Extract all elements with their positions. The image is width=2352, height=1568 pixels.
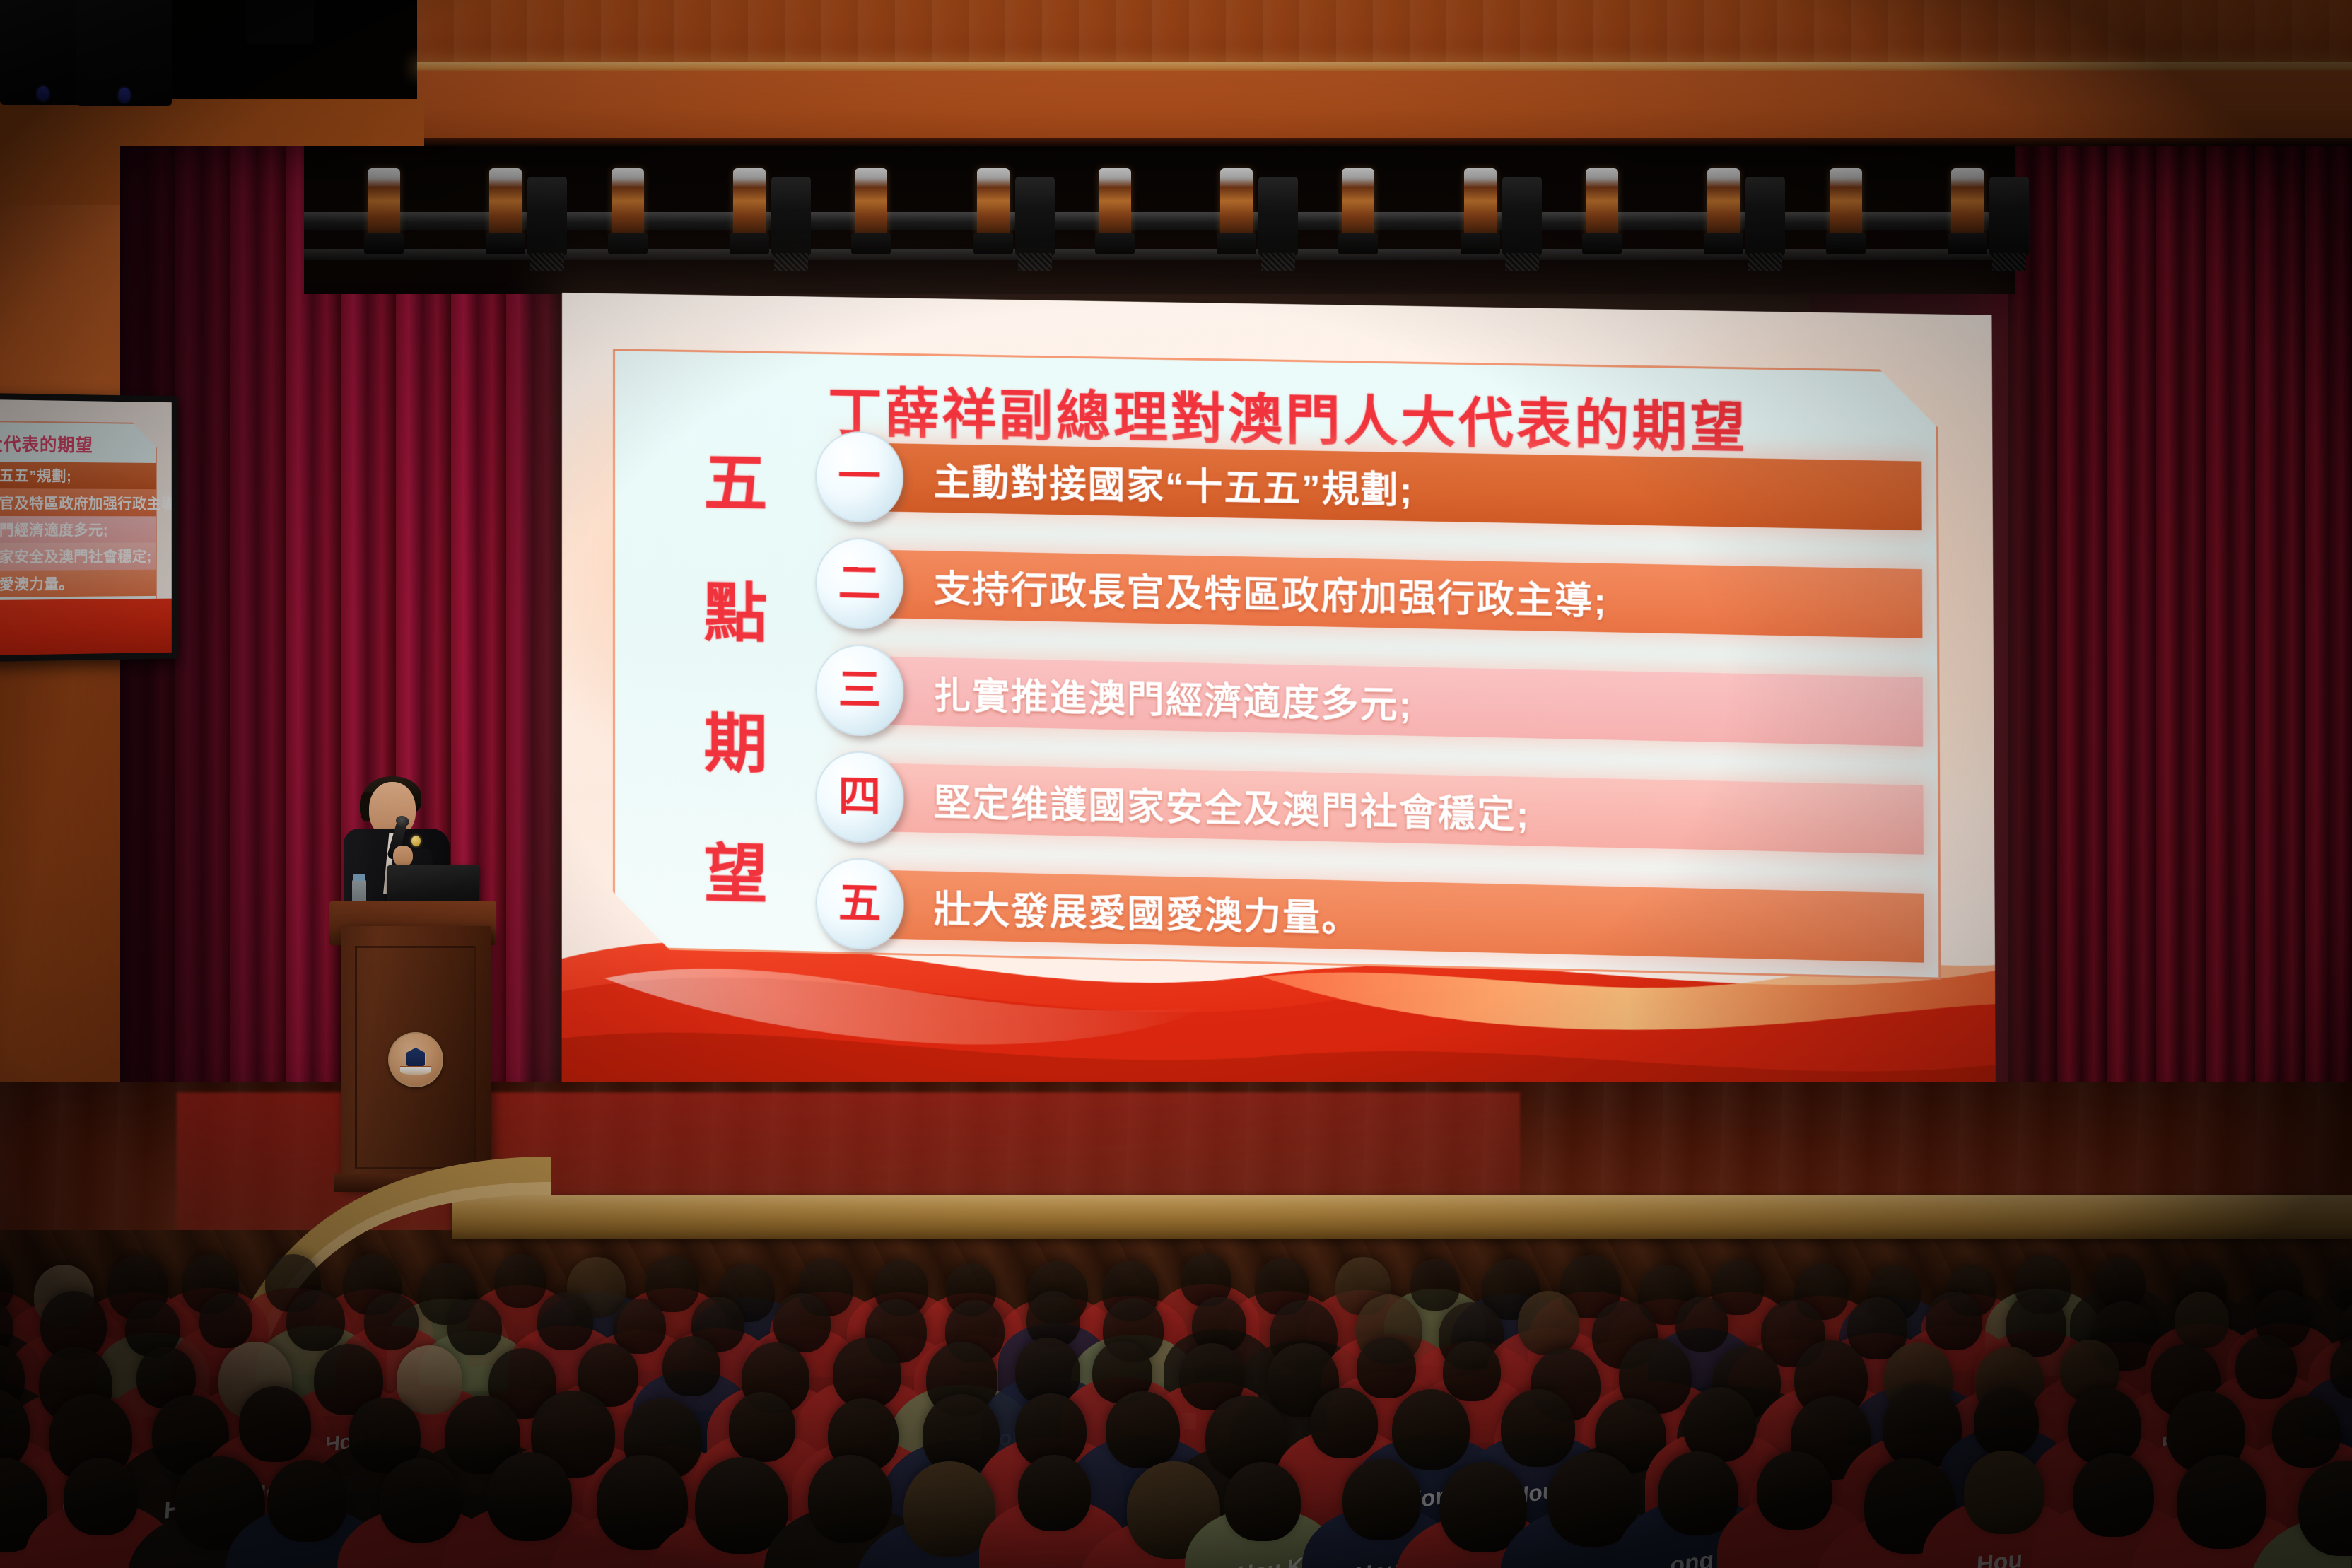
bullet-text: 支持行政長官及特區政府加强行政主導; (933, 558, 1608, 625)
bullet-numeral-badge: 一 (815, 431, 903, 523)
audience-member-head (447, 1299, 502, 1355)
confidence-monitor-title: 大代表的期望 (0, 431, 93, 457)
audience-member-head (1658, 1451, 1738, 1535)
audience-member-head (1410, 1259, 1460, 1311)
vertical-heading-char: 點 (703, 582, 767, 647)
bullet-row: 扎實推進澳門經濟適度多元; 三 (785, 650, 1923, 751)
confidence-monitor-screen: 大代表的期望 五五”規劃; 官及特區政府加强行政主導; 門經濟適度多元; 家安全… (0, 399, 172, 655)
audience-member-head (267, 1460, 346, 1543)
bullet-rows: 主動對接國家“十五五”規劃; 一 支持行政長官及特區政府加强行政主導; 二 (785, 438, 1924, 967)
audience-member-head (1926, 1292, 1982, 1350)
vertical-heading-char: 望 (703, 842, 768, 908)
audience-member-head (1357, 1337, 1416, 1398)
confidence-monitor-row: 五五”規劃; (0, 461, 156, 489)
slide-surface: 丁薛祥副總理對澳門人大代表的期望 五 點 期 望 主動對接國家“十五五”規劃; … (562, 293, 1996, 1123)
audience-member-head (64, 1458, 139, 1535)
audience-member-head (1757, 1451, 1832, 1530)
moving-head-light-icon (1502, 177, 1542, 256)
bullet-numeral-badge: 三 (815, 644, 903, 737)
audience-member-head (808, 1455, 892, 1543)
par-can-light-icon (1830, 168, 1862, 236)
ceiling-speaker-icon (0, 0, 86, 105)
audience-member-head (729, 1392, 796, 1462)
audience-member-head (286, 1290, 345, 1351)
cove-light-strip (417, 62, 2352, 71)
confidence-monitor-row: 門經濟適度多元; (0, 516, 156, 544)
par-can-light-icon (1464, 168, 1497, 236)
bullet-text: 扎實推進澳門經濟適度多元; (934, 665, 1413, 728)
audience-member-head (364, 1293, 419, 1350)
bullet-row: 壯大發展愛國愛澳力量。 五 (785, 864, 1924, 967)
audience-member-head (380, 1458, 461, 1543)
bullet-numeral-badge: 二 (815, 537, 903, 630)
slide-content-card: 丁薛祥副總理對澳門人大代表的期望 五 點 期 望 主動對接國家“十五五”規劃; … (613, 349, 1941, 980)
audience: Hou KongHou KongongKongHouHou KongHou Ko… (0, 1244, 2352, 1568)
moving-head-light-icon (1015, 177, 1055, 256)
confidence-monitor-row: 愛澳力量。 (0, 569, 156, 598)
proscenium-lower-band (417, 71, 2352, 146)
presenter-lapel-pin-icon (411, 836, 421, 846)
stage-apron-brass-lip (452, 1195, 2352, 1239)
audience-member-head (1501, 1389, 1575, 1467)
audience-member-head (1342, 1459, 1420, 1540)
moving-head-light-icon (771, 177, 811, 256)
par-can-light-icon (612, 168, 644, 236)
audience-member-head (397, 1345, 462, 1414)
bullet-bar: 扎實推進澳門經濟適度多元; (848, 656, 1924, 747)
audience-member-head (1974, 1388, 2040, 1456)
speaker-brand-logo-icon (37, 86, 49, 100)
bullet-numeral: 三 (838, 669, 881, 713)
moving-head-light-icon (1258, 177, 1298, 256)
bullet-bar: 堅定维護國家安全及澳門社會穩定; (848, 763, 1924, 855)
par-can-light-icon (489, 168, 522, 236)
confidence-monitor-row: 家安全及澳門社會穩定; (0, 543, 156, 571)
proscenium-upper-band (417, 0, 2352, 62)
audience-member-head (1964, 1451, 2044, 1534)
water-bottle-cap (353, 874, 365, 881)
confidence-monitor: 大代表的期望 五五”規劃; 官及特區政府加强行政主導; 門經濟適度多元; 家安全… (0, 393, 177, 662)
audience-member-head (199, 1293, 252, 1348)
school-crest-icon (388, 1032, 443, 1087)
audience-member-head (1311, 1388, 1379, 1458)
audience-member-head (662, 1336, 720, 1396)
vertical-heading-char: 五 (703, 452, 767, 517)
ceiling-speaker-icon (76, 0, 172, 106)
audience-member-head (1392, 1389, 1470, 1470)
moving-head-light-icon (1745, 177, 1785, 256)
audience-member-head (1224, 1462, 1301, 1541)
audience-member-head (2073, 1453, 2153, 1538)
audience-member-head (2235, 1335, 2297, 1399)
audience-member-head (537, 1292, 594, 1351)
par-can-light-icon (1099, 168, 1131, 236)
par-can-light-icon (1342, 168, 1374, 236)
bullet-numeral: 二 (838, 562, 881, 605)
audience-member-head (2175, 1292, 2229, 1348)
moving-head-light-icon (527, 177, 567, 256)
audience-member-head (2177, 1455, 2266, 1548)
crest-open-book-icon (400, 1066, 431, 1075)
audience-member-head (239, 1386, 311, 1461)
bullet-row: 堅定维護國家安全及澳門社會穩定; 四 (785, 757, 1924, 859)
par-can-light-icon (1951, 168, 1984, 236)
bullet-numeral: 五 (838, 882, 882, 926)
par-can-light-icon (1586, 168, 1618, 236)
bullet-text: 壯大發展愛國愛澳力量。 (934, 879, 1360, 942)
bullet-row: 支持行政長官及特區政府加强行政主導; 二 (785, 544, 1923, 643)
audience-member-head (2068, 1388, 2142, 1465)
confidence-monitor-rows: 五五”規劃; 官及特區政府加强行政主導; 門經濟適度多元; 家安全及澳門社會穩定… (0, 461, 156, 598)
par-can-light-icon (733, 168, 766, 236)
bullet-numeral: 四 (838, 775, 882, 819)
stage-curtain-right (2008, 146, 2352, 1149)
confidence-monitor-ribbon (0, 599, 172, 655)
par-can-light-icon (368, 168, 400, 236)
par-can-light-icon (977, 168, 1010, 236)
vertical-heading: 五 點 期 望 (686, 451, 785, 908)
par-can-light-icon (1707, 168, 1740, 236)
audience-member-head (2272, 1396, 2341, 1468)
audience-member-head (1018, 1455, 1092, 1531)
ceiling-speaker-icon (246, 0, 314, 44)
bullet-bar: 壯大發展愛國愛澳力量。 (848, 870, 1924, 963)
bullet-numeral: 一 (838, 455, 880, 498)
confidence-monitor-row: 官及特區政府加强行政主導; (0, 488, 156, 516)
audience-member-head (1675, 1297, 1728, 1352)
vertical-heading-char: 期 (703, 712, 768, 777)
presenter-hand (393, 846, 413, 867)
bullet-text: 主動對接國家“十五五”規劃; (933, 452, 1413, 514)
auditorium-room: 丁薛祥副總理對澳門人大代表的期望 五 點 期 望 主動對接國家“十五五”規劃; … (0, 0, 2352, 1568)
audience-member-head (1518, 1291, 1579, 1355)
podium (341, 926, 491, 1188)
bullet-text: 堅定维護國家安全及澳門社會穩定; (934, 772, 1531, 838)
audience-member-head (494, 1254, 546, 1309)
par-can-light-icon (855, 168, 887, 236)
par-can-light-icon (1220, 168, 1253, 236)
speaker-brand-logo-icon (119, 88, 130, 102)
audience-member-head (487, 1452, 573, 1540)
bullet-bar: 主動對接國家“十五五”規劃; (848, 443, 1921, 530)
bullet-bar: 支持行政長官及特區政府加强行政主導; (848, 549, 1922, 638)
audience-member-head (1443, 1341, 1501, 1401)
projection-screen: 丁薛祥副總理對澳門人大代表的期望 五 點 期 望 主動對接國家“十五五”規劃; … (562, 293, 1996, 1123)
wood-grain-sheen (417, 0, 2352, 62)
audience-member-head (1106, 1391, 1180, 1468)
moving-head-light-icon (1989, 177, 2029, 256)
